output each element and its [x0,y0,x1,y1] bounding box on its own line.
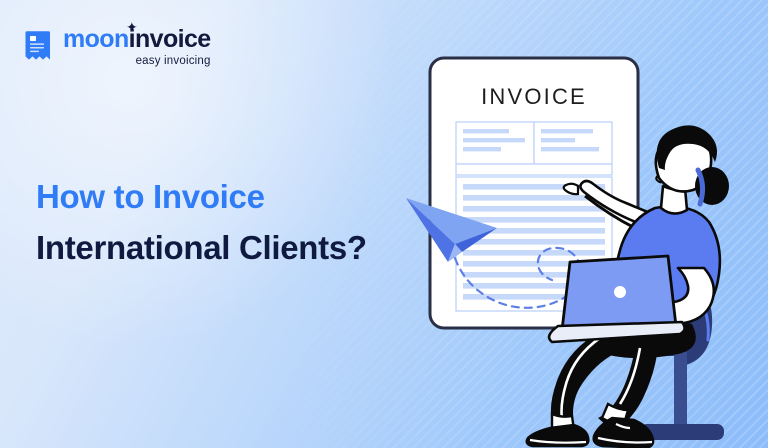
laptop-illustration [549,256,684,342]
invoice-header-boxes [456,122,612,175]
hero-banner: mooninvoice ✦ easy invoicing How to Invo… [0,0,768,448]
invoice-title: INVOICE [481,84,587,109]
hero-illustration: INVOICE [0,0,768,448]
